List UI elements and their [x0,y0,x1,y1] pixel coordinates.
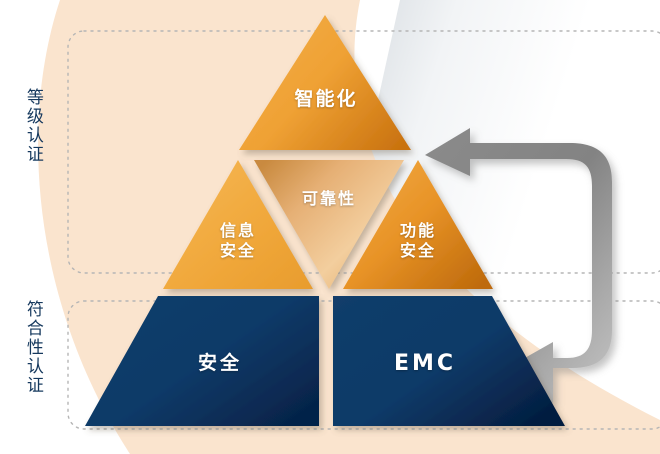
pyramid-layer [0,0,660,454]
diagram-canvas: 智能化 可靠性 信息 安全 功能 安全 安全 EMC 等级认证 符合性认证 [0,0,660,454]
block-smart[interactable] [239,15,411,150]
block-safety[interactable] [85,296,319,426]
block-emc[interactable] [333,296,565,426]
side-label-compliance: 符合性认证 [24,300,42,395]
side-label-grade: 等级认证 [24,88,42,164]
